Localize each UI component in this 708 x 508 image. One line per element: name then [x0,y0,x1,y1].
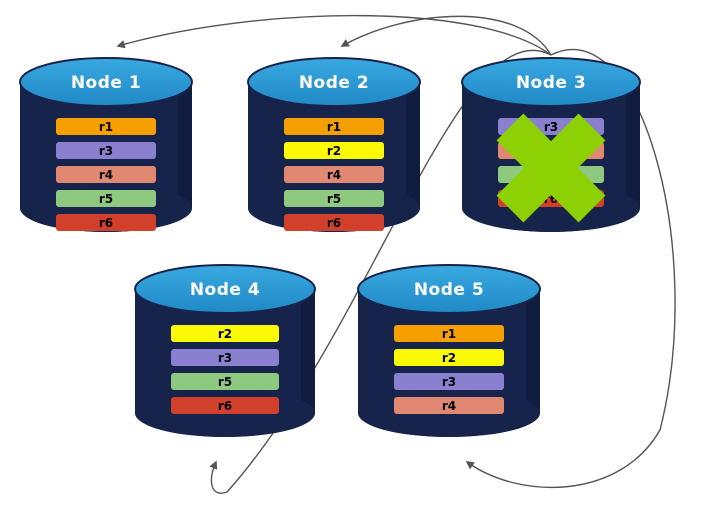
node-4[interactable]: Node 4r2r3r5r6 [135,265,315,437]
record-label: r4 [327,168,341,182]
record-label: r6 [327,216,341,230]
node-5[interactable]: Node 5r1r2r3r4 [358,265,540,437]
record-label: r4 [99,168,113,182]
node-2[interactable]: Node 2r1r2r4r5r6 [248,58,420,232]
node-title: Node 5 [414,280,484,300]
arrow-to-node-1 [118,16,551,55]
node-title: Node 1 [71,73,141,93]
replication-diagram: Node 1r1r3r4r5r6Node 2r1r2r4r5r6Node 3r3… [0,0,708,508]
record-label: r1 [99,120,113,134]
cylinder-shading [626,82,640,214]
record-label: r1 [327,120,341,134]
record-label: r1 [442,327,456,341]
record-label: r5 [327,192,341,206]
record-label: r4 [442,399,456,413]
cylinder-shading [406,82,420,214]
cylinder-shading [526,289,540,419]
record-label: r3 [218,351,232,365]
arrow-to-node-2 [342,16,551,55]
record-label: r5 [99,192,113,206]
node-title: Node 4 [190,280,260,300]
node-layer: Node 1r1r3r4r5r6Node 2r1r2r4r5r6Node 3r3… [20,58,640,437]
node-title: Node 2 [299,73,369,93]
node-1[interactable]: Node 1r1r3r4r5r6 [20,58,192,232]
record-label: r5 [218,375,232,389]
record-label: r3 [544,120,558,134]
record-label: r6 [218,399,232,413]
cylinder-shading [301,289,315,419]
cylinder-shading [178,82,192,214]
record-label: r2 [442,351,456,365]
record-label: r6 [99,216,113,230]
node-title: Node 3 [516,73,586,93]
record-label: r2 [218,327,232,341]
record-label: r3 [99,144,113,158]
record-label: r2 [327,144,341,158]
record-label: r3 [442,375,456,389]
